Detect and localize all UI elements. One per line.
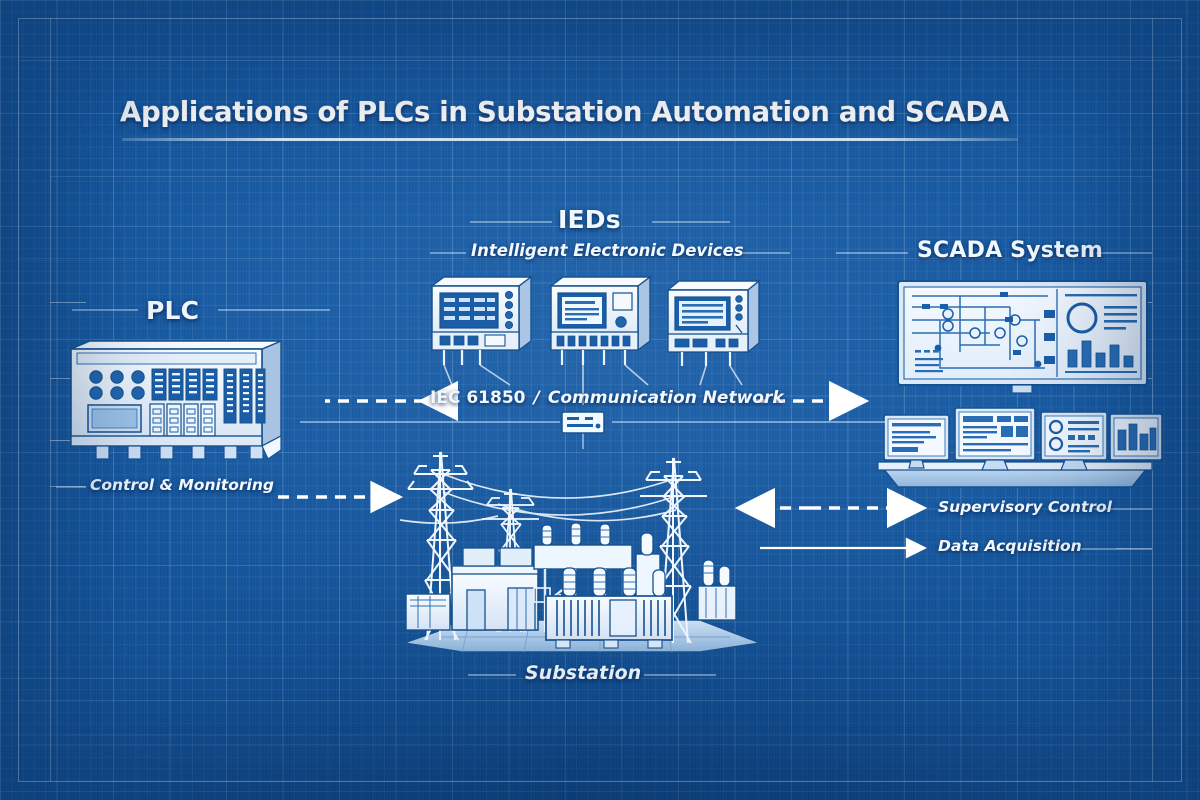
- control-monitoring-label: Control & Monitoring: [90, 476, 274, 494]
- substation-power-transformer: [546, 568, 672, 648]
- supervisory-control-label: Supervisory Control: [938, 498, 1112, 516]
- workstation-monitor-1: [884, 415, 949, 468]
- scada-videowall-icon: [898, 281, 1147, 393]
- workstation-monitor-2: [955, 408, 1035, 470]
- title-underline: [122, 138, 1018, 141]
- ied-device-1: [432, 277, 531, 365]
- scada-workstation-icon: [878, 408, 1162, 487]
- substation-switchgear-cabinet: [406, 594, 450, 630]
- node-label-plc: PLC: [146, 296, 199, 325]
- blueprint-canvas: Applications of PLCs in Substation Autom…: [0, 0, 1200, 800]
- communication-bus-network: Communication Network: [548, 388, 784, 408]
- ied-device-3: [668, 281, 759, 366]
- node-sublabel-ieds: Intelligent Electronic Devices: [471, 241, 744, 260]
- node-label-ieds: IEDs: [558, 205, 621, 234]
- substation-control-building: [452, 548, 538, 630]
- plc-rack-icon: [71, 341, 281, 459]
- substation-yard-icon: [400, 452, 760, 652]
- data-acquisition-label: Data Acquisition: [938, 537, 1082, 555]
- node-label-substation: Substation: [525, 662, 641, 684]
- page-title: Applications of PLCs in Substation Autom…: [120, 96, 1009, 128]
- network-switch-icon: [562, 412, 604, 433]
- ied-device-2: [551, 277, 650, 365]
- communication-bus-separator: /: [531, 388, 543, 408]
- node-label-scada: SCADA System: [917, 238, 1103, 263]
- substation-right-bushings: [698, 560, 736, 620]
- ied-device-icon: [432, 277, 759, 366]
- communication-bus-standard: IEC 61850: [430, 388, 525, 408]
- workstation-monitor-4: [1110, 414, 1162, 460]
- communication-bus-label: IEC 61850 / Communication Network: [430, 388, 784, 408]
